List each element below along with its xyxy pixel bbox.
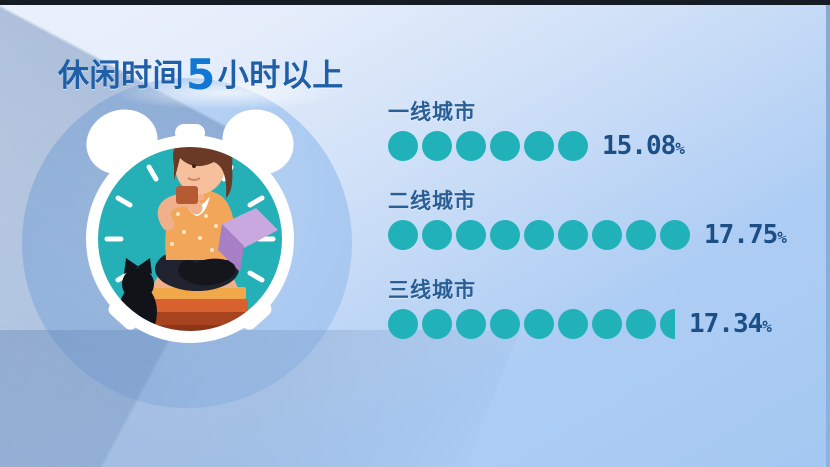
coffee-cup: [176, 186, 198, 204]
row-body-tier2: 17.75%: [388, 220, 787, 250]
alarm-clock-svg: [60, 104, 320, 354]
cat-head: [122, 268, 154, 300]
dot: [490, 131, 520, 161]
dot: [422, 220, 452, 250]
person-eye: [192, 164, 196, 168]
top-edge-bar: [0, 0, 830, 5]
value-tier1: 15.08%: [602, 131, 685, 161]
city-tier-chart: 一线城市 15.08% 二线城市: [388, 96, 787, 363]
row-label-tier3: 三线城市: [388, 274, 787, 304]
dot: [626, 220, 656, 250]
dot: [626, 309, 656, 339]
dot-group-tier3: [388, 309, 679, 339]
title-number: 5: [184, 50, 218, 99]
dot: [456, 131, 486, 161]
dot: [558, 131, 588, 161]
dot: [558, 309, 588, 339]
value-number-tier2: 17.75: [704, 220, 777, 250]
dot: [422, 309, 452, 339]
dot: [456, 309, 486, 339]
dot: [558, 220, 588, 250]
title-part-one: 休闲时间: [58, 58, 184, 94]
dot-group-tier1: [388, 131, 592, 161]
percent-symbol-tier2: %: [777, 228, 787, 247]
dot-half: [660, 309, 675, 339]
dot: [456, 220, 486, 250]
page-title: 休闲时间5小时以上: [58, 50, 344, 99]
percent-symbol-tier1: %: [675, 139, 685, 158]
value-number-tier3: 17.34: [689, 309, 762, 339]
dot-group-tier2: [388, 220, 694, 250]
dot: [592, 220, 622, 250]
dot: [524, 131, 554, 161]
dot: [592, 309, 622, 339]
dot: [524, 309, 554, 339]
chart-row: 三线城市 17.34%: [388, 274, 787, 339]
value-tier3: 17.34%: [689, 309, 772, 339]
row-label-tier1: 一线城市: [388, 96, 787, 126]
chart-row: 一线城市 15.08%: [388, 96, 787, 161]
title-part-two: 小时以上: [218, 58, 344, 94]
row-body-tier1: 15.08%: [388, 131, 787, 161]
cat-lap-head: [178, 260, 198, 280]
row-body-tier3: 17.34%: [388, 309, 787, 339]
dot: [490, 309, 520, 339]
dot: [422, 131, 452, 161]
right-edge-bar: [826, 0, 830, 467]
dot: [388, 309, 418, 339]
alarm-clock-illustration: [60, 104, 320, 354]
value-number-tier1: 15.08: [602, 131, 675, 161]
dot: [388, 131, 418, 161]
cat-tail: [110, 318, 120, 344]
row-label-tier2: 二线城市: [388, 185, 787, 215]
dot: [388, 220, 418, 250]
infographic-canvas: 休闲时间5小时以上: [0, 0, 830, 467]
dot: [660, 220, 690, 250]
dot: [490, 220, 520, 250]
percent-symbol-tier3: %: [762, 317, 772, 336]
book-stack-mid: [146, 299, 248, 312]
dot: [524, 220, 554, 250]
chart-row: 二线城市 17.75%: [388, 185, 787, 250]
value-tier2: 17.75%: [704, 220, 787, 250]
